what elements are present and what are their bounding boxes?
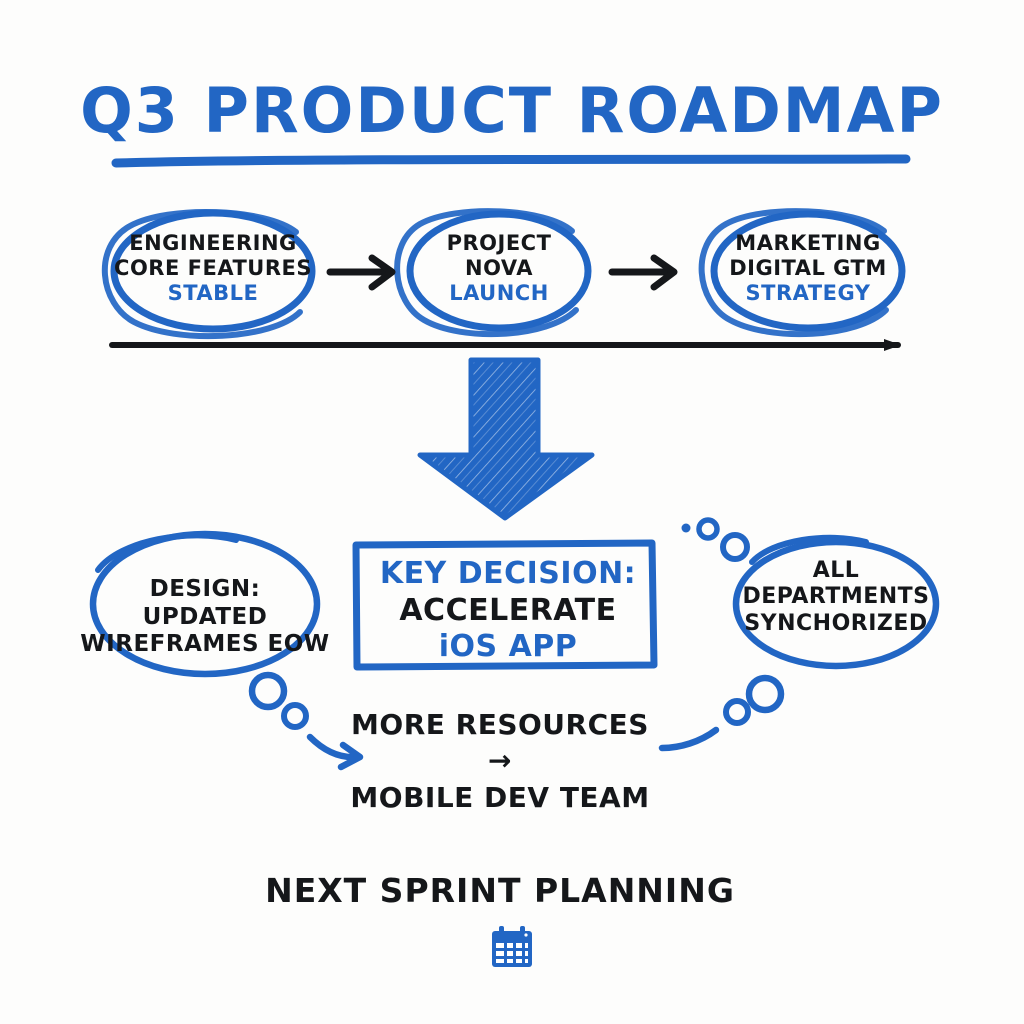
node-status: STABLE [114, 281, 312, 306]
title-underline [116, 159, 906, 163]
right-arrow-icon-1 [330, 258, 392, 287]
key-decision-heading: KEY DECISION: [380, 556, 636, 593]
calendar-icon [489, 924, 535, 970]
node-line2: CORE FEATURES [114, 256, 312, 281]
resources-line1-wrap: MORE RESOURCES→ [350, 707, 649, 780]
key-decision-label: KEY DECISION: ACCELERATE iOS APP [380, 556, 636, 666]
bubble-right-line1: ALL [742, 558, 929, 584]
node-label-engineering: ENGINEERING CORE FEATURES STABLE [114, 231, 312, 305]
bubble-right-line2: DEPARTMENTS [742, 584, 929, 610]
node-line2: DIGITAL GTM [729, 256, 887, 281]
key-decision-line2: ACCELERATE [380, 593, 636, 630]
down-arrow-icon [420, 360, 592, 518]
bubble-right-line3: SYNCHORIZED [742, 611, 929, 637]
key-decision-line3: iOS APP [380, 629, 636, 666]
whiteboard-canvas: Q3 PRODUCT ROADMAP ENGINEERING CORE FEAT… [0, 0, 1024, 1024]
bubble-right-label: ALL DEPARTMENTS SYNCHORIZED [742, 558, 929, 637]
resources-line2: MOBILE DEV TEAM [350, 780, 649, 816]
resources-note: MORE RESOURCES→ MOBILE DEV TEAM [350, 707, 649, 816]
node-label-project-nova: PROJECT NOVA LAUNCH [447, 231, 552, 305]
bubble-left-label: DESIGN: UPDATED WIREFRAMES EOW [80, 576, 329, 659]
page-title: Q3 PRODUCT ROADMAP [80, 76, 944, 145]
node-line1: ENGINEERING [114, 231, 312, 256]
node-line1: MARKETING [729, 231, 887, 256]
right-arrow-icon-2 [612, 258, 674, 287]
resources-line1: MORE RESOURCES [350, 707, 649, 743]
bubble-left-line2: UPDATED [80, 604, 329, 632]
bubble-left-line1: DESIGN: [80, 576, 329, 604]
node-status: LAUNCH [447, 281, 552, 306]
timeline-arrow-icon [112, 339, 901, 351]
bubble-left-thought-bubble-dots-icon [252, 675, 360, 767]
node-line2: NOVA [447, 256, 552, 281]
node-status: STRATEGY [729, 281, 887, 306]
right-arrow-icon-inline: → [488, 744, 512, 777]
node-line1: PROJECT [447, 231, 552, 256]
bubble-left-line3: WIREFRAMES EOW [80, 631, 329, 659]
footer-label: NEXT SPRINT PLANNING [265, 873, 735, 910]
node-label-marketing: MARKETING DIGITAL GTM STRATEGY [729, 231, 887, 305]
